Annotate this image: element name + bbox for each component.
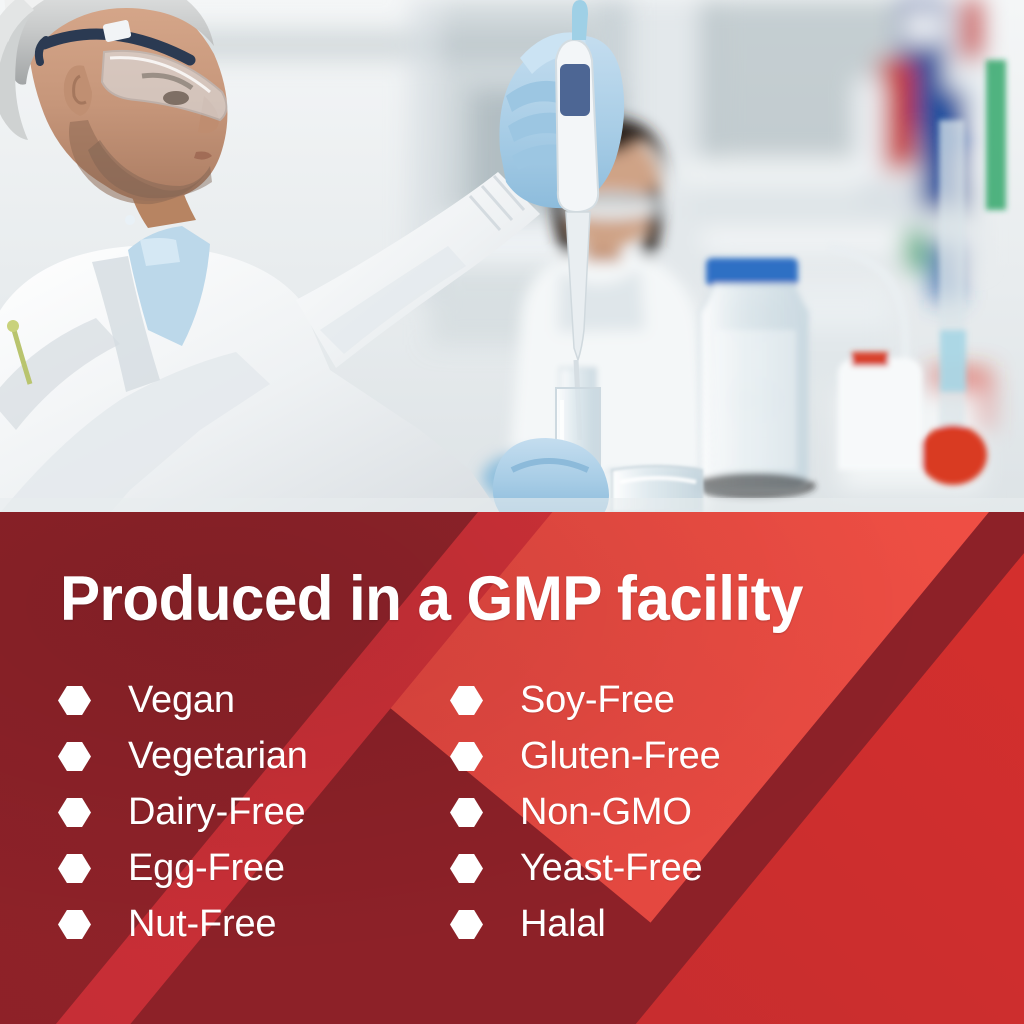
hexagon-bullet-icon — [452, 908, 481, 941]
hexagon-bullet-icon — [60, 684, 89, 717]
feature-columns: Vegan Vegetarian Dairy-Free Egg-Free Nut — [0, 672, 1024, 952]
page-title: Produced in a GMP facility — [60, 566, 803, 632]
feature-column-right: Soy-Free Gluten-Free Non-GMO Yeast-Free — [452, 672, 952, 952]
hexagon-bullet-icon — [452, 740, 481, 773]
list-item: Vegan — [60, 672, 452, 728]
list-item: Egg-Free — [60, 840, 452, 896]
list-item: Halal — [452, 896, 952, 952]
list-item: Dairy-Free — [60, 784, 452, 840]
feature-column-left: Vegan Vegetarian Dairy-Free Egg-Free Nut — [0, 672, 452, 952]
feature-label: Yeast-Free — [520, 847, 702, 890]
feature-label: Soy-Free — [520, 679, 675, 722]
feature-label: Nut-Free — [128, 903, 276, 946]
list-item: Non-GMO — [452, 784, 952, 840]
list-item: Nut-Free — [60, 896, 452, 952]
hexagon-bullet-icon — [452, 852, 481, 885]
hexagon-bullet-icon — [60, 740, 89, 773]
list-item: Gluten-Free — [452, 728, 952, 784]
list-item: Yeast-Free — [452, 840, 952, 896]
feature-label: Halal — [520, 903, 606, 946]
feature-label: Non-GMO — [520, 791, 692, 834]
hexagon-bullet-icon — [60, 796, 89, 829]
gmp-facility-banner: Produced in a GMP facility Vegan Vegetar… — [0, 0, 1024, 1024]
list-item: Vegetarian — [60, 728, 452, 784]
hexagon-bullet-icon — [452, 796, 481, 829]
panel-content: Produced in a GMP facility Vegan Vegetar… — [0, 0, 1024, 1024]
hexagon-bullet-icon — [60, 852, 89, 885]
feature-label: Dairy-Free — [128, 791, 305, 834]
feature-label: Gluten-Free — [520, 735, 721, 778]
list-item: Soy-Free — [452, 672, 952, 728]
feature-label: Vegan — [128, 679, 235, 722]
hexagon-bullet-icon — [60, 908, 89, 941]
feature-label: Vegetarian — [128, 735, 308, 778]
feature-label: Egg-Free — [128, 847, 285, 890]
hexagon-bullet-icon — [452, 684, 481, 717]
